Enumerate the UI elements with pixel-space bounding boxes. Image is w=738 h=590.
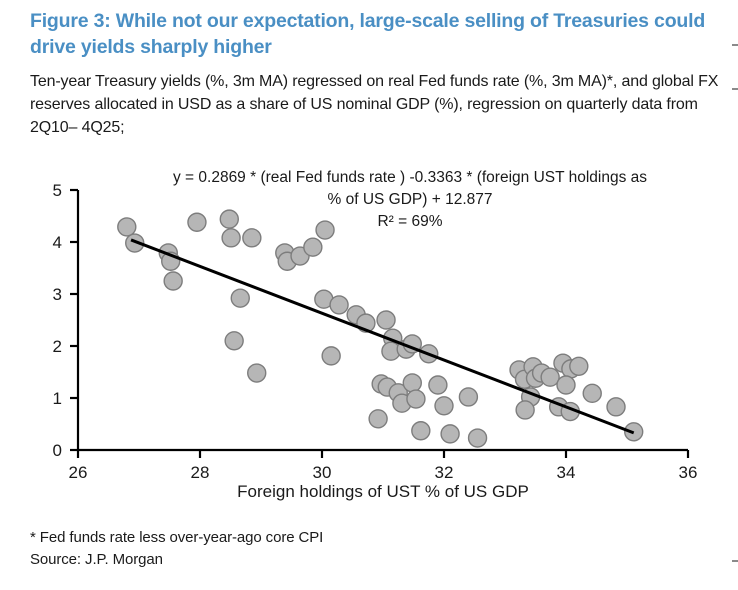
scatter-point <box>357 314 375 332</box>
scatter-point <box>625 423 643 441</box>
scatter-point <box>562 360 580 378</box>
scatter-point <box>164 272 182 290</box>
scatter-point <box>420 345 438 363</box>
scatter-point <box>527 369 545 387</box>
scatter-point <box>510 361 528 379</box>
scatter-point <box>561 403 579 421</box>
x-axis-title: Foreign holdings of UST % of US GDP <box>237 482 529 501</box>
scatter-point <box>403 335 421 353</box>
y-tick-label: 1 <box>53 389 62 408</box>
scatter-point <box>403 374 421 392</box>
equation-line-1: y = 0.2869 * (real Fed funds rate ) -0.3… <box>173 169 647 186</box>
y-tick-label: 4 <box>53 233 62 252</box>
scatter-point <box>533 364 551 382</box>
scatter-point <box>557 376 575 394</box>
scatter-point <box>389 384 407 402</box>
x-tick-label: 28 <box>191 463 210 482</box>
scatter-point <box>412 422 430 440</box>
figure-subtitle: Ten-year Treasury yields (%, 3m MA) regr… <box>30 70 720 139</box>
x-tick-label: 36 <box>679 463 698 482</box>
scatter-point <box>248 364 266 382</box>
x-tick-label: 26 <box>69 463 88 482</box>
scatter-point <box>304 238 322 256</box>
scatter-point <box>372 375 390 393</box>
figure-title: Figure 3: While not our expectation, lar… <box>30 8 710 60</box>
scatter-point <box>469 429 487 447</box>
scatter-point <box>459 388 477 406</box>
scatter-point <box>397 340 415 358</box>
scatter-point <box>541 368 559 386</box>
scatter-point <box>278 252 296 270</box>
scatter-point <box>315 290 333 308</box>
regression-trendline <box>131 240 634 433</box>
scatter-point <box>188 213 206 231</box>
x-tick-label: 34 <box>557 463 576 482</box>
y-tick-label: 3 <box>53 285 62 304</box>
scatter-point <box>522 388 540 406</box>
page-edge-mark <box>732 560 738 562</box>
scatter-point <box>570 357 588 375</box>
axes-group: 262830323436012345 <box>53 181 698 482</box>
scatter-point <box>377 311 395 329</box>
regression-equation-annotation: y = 0.2869 * (real Fed funds rate ) -0.3… <box>173 169 647 230</box>
scatter-point <box>322 347 340 365</box>
scatter-point <box>516 370 534 388</box>
scatter-point <box>243 229 261 247</box>
scatter-point <box>607 398 625 416</box>
scatter-point <box>583 384 601 402</box>
scatter-point <box>225 332 243 350</box>
scatter-point <box>118 218 136 236</box>
y-tick-label: 2 <box>53 337 62 356</box>
scatter-point <box>524 358 542 376</box>
footnote-asterisk: * Fed funds rate less over-year-ago core… <box>30 527 323 549</box>
equation-line-3: R² = 69% <box>377 213 442 230</box>
scatter-point <box>126 234 144 252</box>
equation-line-2: % of US GDP) + 12.877 <box>328 191 493 208</box>
page-edge-mark <box>732 44 738 46</box>
scatter-point <box>429 376 447 394</box>
scatter-point <box>220 210 238 228</box>
scatter-point <box>407 390 425 408</box>
x-tick-label: 32 <box>435 463 454 482</box>
figure-container: Figure 3: While not our expectation, lar… <box>0 0 738 590</box>
scatter-point <box>550 398 568 416</box>
scatter-point <box>316 221 334 239</box>
x-tick-label: 30 <box>313 463 332 482</box>
y-tick-label: 0 <box>53 441 62 460</box>
scatter-point <box>369 410 387 428</box>
scatter-point <box>276 244 294 262</box>
scatter-point <box>516 401 534 419</box>
scatter-point <box>554 354 572 372</box>
scatter-point <box>384 329 402 347</box>
scatter-point <box>162 252 180 270</box>
footnote-source: Source: J.P. Morgan <box>30 549 163 571</box>
scatter-point <box>382 342 400 360</box>
scatter-point <box>231 289 249 307</box>
scatter-point <box>222 229 240 247</box>
y-tick-label: 5 <box>53 181 62 200</box>
scatter-point <box>378 378 396 396</box>
scatter-point <box>330 296 348 314</box>
scatter-point <box>159 244 177 262</box>
scatter-point <box>435 397 453 415</box>
scatter-point <box>347 306 365 324</box>
plot-group <box>118 210 643 447</box>
scatter-point <box>393 394 411 412</box>
page-edge-mark <box>732 88 738 90</box>
scatter-point <box>441 425 459 443</box>
scatter-point <box>291 247 309 265</box>
